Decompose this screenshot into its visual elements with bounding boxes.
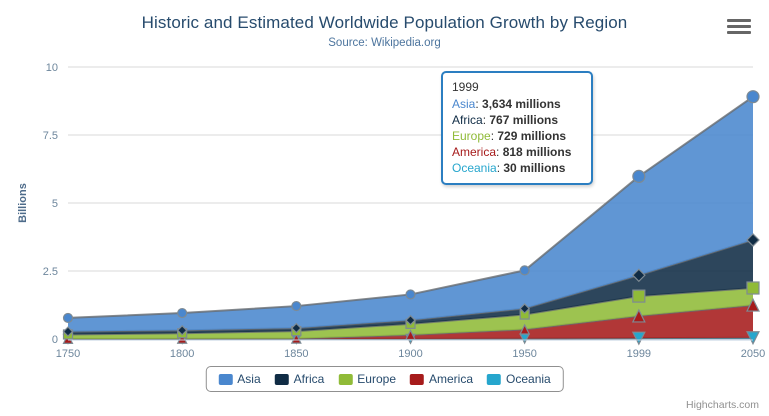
legend-item-europe[interactable]: Europe (338, 372, 396, 386)
data-point-marker[interactable] (520, 266, 529, 275)
tooltip-rows: Asia: 3,634 millionsAfrica: 767 millions… (452, 96, 582, 176)
tooltip-series-name: Europe (452, 129, 491, 143)
legend-item-africa[interactable]: Africa (275, 372, 325, 386)
x-axis-tick-label: 1850 (284, 348, 308, 360)
data-point-marker[interactable] (292, 302, 301, 311)
x-axis-tick-label: 1950 (512, 348, 536, 360)
legend-item-oceania[interactable]: Oceania (487, 372, 551, 386)
y-axis-tick-label: 10 (46, 62, 58, 74)
y-axis-tick-label: 5 (52, 198, 58, 210)
data-point-marker[interactable] (64, 313, 73, 322)
highcharts-credits[interactable]: Highcharts.com (686, 399, 759, 411)
legend-item-label: America (429, 372, 473, 386)
x-axis-tick-label: 1999 (627, 348, 651, 360)
highcharts-container: Historic and Estimated Worldwide Populat… (0, 0, 769, 416)
tooltip-series-value: 818 millions (503, 145, 572, 159)
legend-item-label: Africa (294, 372, 325, 386)
data-point-marker[interactable] (747, 91, 759, 103)
legend-swatch-icon (487, 374, 501, 385)
data-point-marker[interactable] (633, 290, 645, 302)
x-axis-tick-label: 1900 (398, 348, 422, 360)
x-axis-tick-label: 2050 (741, 348, 765, 360)
y-axis-title: Billions (17, 183, 29, 223)
y-axis-tick-label: 2.5 (43, 266, 58, 278)
y-axis-tick-label: 0 (52, 334, 58, 346)
legend-item-label: Asia (237, 372, 260, 386)
tooltip-series-name: Asia (452, 97, 475, 111)
data-point-marker[interactable] (747, 282, 759, 294)
plot-area: 02.557.510Billions1750180018501900195019… (0, 0, 769, 416)
data-point-marker[interactable] (178, 309, 187, 318)
x-axis-tick-label: 1800 (170, 348, 194, 360)
tooltip-series-name: Oceania (452, 161, 497, 175)
legend-item-america[interactable]: America (410, 372, 473, 386)
tooltip-row: America: 818 millions (452, 144, 582, 160)
chart-legend: AsiaAfricaEuropeAmericaOceania (205, 366, 563, 392)
tooltip-header: 1999 (452, 79, 582, 95)
legend-item-label: Europe (357, 372, 396, 386)
data-point-marker[interactable] (406, 290, 415, 299)
chart-tooltip: 1999 Asia: 3,634 millionsAfrica: 767 mil… (441, 71, 593, 185)
legend-swatch-icon (275, 374, 289, 385)
x-axis-tick-label: 1750 (56, 348, 80, 360)
y-axis-tick-label: 7.5 (43, 130, 58, 142)
tooltip-row: Africa: 767 millions (452, 112, 582, 128)
tooltip-series-value: 767 millions (489, 113, 558, 127)
tooltip-series-value: 3,634 millions (482, 97, 561, 111)
tooltip-series-name: Africa (452, 113, 483, 127)
legend-item-label: Oceania (506, 372, 551, 386)
tooltip-series-name: America (452, 145, 496, 159)
legend-swatch-icon (338, 374, 352, 385)
tooltip-series-value: 729 millions (497, 129, 566, 143)
tooltip-row: Oceania: 30 millions (452, 160, 582, 176)
data-point-marker[interactable] (633, 170, 645, 182)
legend-item-asia[interactable]: Asia (218, 372, 260, 386)
tooltip-series-value: 30 millions (503, 161, 565, 175)
legend-swatch-icon (218, 374, 232, 385)
tooltip-row: Europe: 729 millions (452, 128, 582, 144)
tooltip-row: Asia: 3,634 millions (452, 96, 582, 112)
legend-swatch-icon (410, 374, 424, 385)
